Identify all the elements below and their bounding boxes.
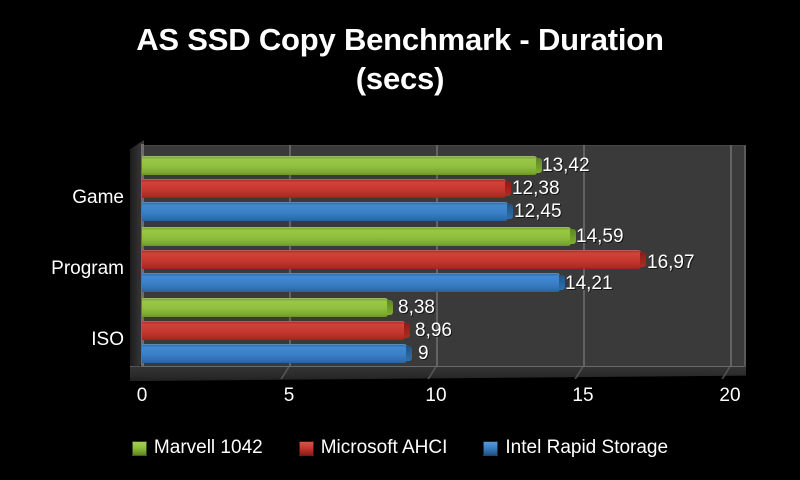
legend-swatch-red-icon: [299, 441, 314, 456]
bar-game-microsoft-ahci[interactable]: [142, 179, 506, 198]
bar-iso-intel-rapid-storage[interactable]: [142, 344, 407, 363]
bar-program-microsoft-ahci[interactable]: [142, 250, 641, 269]
xtick-10: 10: [425, 385, 446, 407]
xtick-5: 5: [284, 385, 295, 407]
datalabel-program-marvell-1042: 14,59: [576, 227, 624, 246]
legend-label-intel-rapid-storage: Intel Rapid Storage: [505, 438, 668, 458]
legend-swatch-blue-icon: [483, 441, 498, 456]
bar-game-marvell-1042[interactable]: [142, 156, 537, 175]
xtick-0: 0: [137, 385, 148, 407]
plot-floor: [130, 366, 746, 381]
datalabel-game-microsoft-ahci: 12,38: [512, 179, 560, 198]
datalabel-iso-marvell-1042: 8,38: [398, 298, 435, 317]
gridline-20: [730, 145, 732, 367]
bar-iso-marvell-1042[interactable]: [142, 298, 388, 317]
chart-title: AS SSD Copy Benchmark - Duration (secs): [0, 20, 800, 98]
datalabel-iso-microsoft-ahci: 8,96: [415, 321, 452, 340]
plot-area: 13,42 12,38 12,45 14,59 16,97 14,21 8,38…: [130, 140, 750, 380]
datalabel-game-intel-rapid-storage: 12,45: [514, 202, 562, 221]
legend-item-microsoft-ahci[interactable]: Microsoft AHCI: [299, 438, 448, 458]
xtick-15: 15: [572, 385, 593, 407]
bar-program-intel-rapid-storage[interactable]: [142, 273, 560, 292]
bar-program-marvell-1042[interactable]: [142, 227, 571, 246]
chart-legend: Marvell 1042 Microsoft AHCI Intel Rapid …: [0, 434, 800, 462]
plot-floor-edge: [142, 366, 744, 367]
chart-canvas: AS SSD Copy Benchmark - Duration (secs) …: [0, 0, 800, 480]
category-label-iso: ISO: [4, 330, 124, 349]
datalabel-iso-intel-rapid-storage: 9: [418, 344, 429, 363]
legend-label-microsoft-ahci: Microsoft AHCI: [321, 438, 448, 458]
category-label-program: Program: [4, 259, 124, 278]
bar-game-intel-rapid-storage[interactable]: [142, 202, 508, 221]
legend-item-marvell-1042[interactable]: Marvell 1042: [132, 438, 263, 458]
bar-iso-microsoft-ahci[interactable]: [142, 321, 405, 340]
legend-swatch-green-icon: [132, 441, 147, 456]
legend-item-intel-rapid-storage[interactable]: Intel Rapid Storage: [483, 438, 668, 458]
category-label-game: Game: [4, 188, 124, 207]
category-axis: Game Program ISO: [0, 140, 124, 380]
datalabel-program-microsoft-ahci: 16,97: [647, 253, 695, 272]
datalabel-game-marvell-1042: 13,42: [542, 156, 590, 175]
legend-label-marvell-1042: Marvell 1042: [154, 438, 263, 458]
x-axis: 0 5 10 15 20: [130, 385, 790, 411]
xtick-20: 20: [719, 385, 740, 407]
datalabel-program-intel-rapid-storage: 14,21: [565, 274, 613, 293]
